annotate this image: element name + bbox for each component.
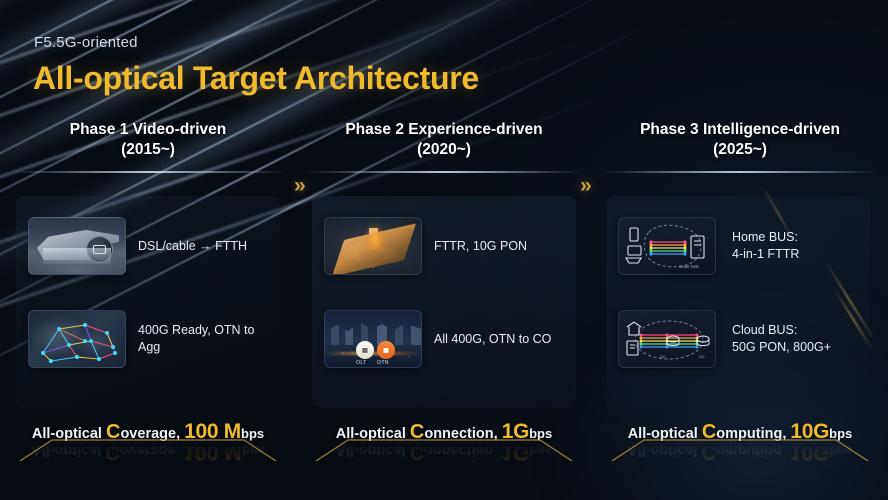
kicker-text: F5.5G-oriented xyxy=(34,34,138,51)
phase-3-divider xyxy=(604,171,876,173)
cloud-bus-svg: DC DC xyxy=(619,311,716,368)
phase-1-year: (2015~) xyxy=(0,140,296,160)
list-item[interactable]: 400G Ready, OTN to Agg xyxy=(28,309,268,369)
phase-2-heading: Phase 2 Experience-driven (2020~) xyxy=(296,118,592,160)
svg-text:smart host: smart host xyxy=(679,264,699,269)
chevron-separator-2-icon: » xyxy=(580,175,585,196)
slide-canvas: F5.5G-oriented All-optical Target Archit… xyxy=(0,0,888,500)
list-item[interactable]: DSL/cable → FTTH xyxy=(28,216,268,276)
list-item-label: FTTR, 10G PON xyxy=(434,238,527,255)
phase-3-panel: smart host Home BUS: 4-in-1 FTTR xyxy=(606,196,870,408)
phase-2-panel: FTTR, 10G PON ▤ ▦ OLT OTN All 400G, OTN … xyxy=(312,196,576,408)
chevron-separator-1-icon: » xyxy=(294,175,299,196)
footer-wedge-1 xyxy=(12,439,284,461)
otn-badge-icon: ▦ xyxy=(377,341,395,359)
phase-3-year: (2025~) xyxy=(592,140,888,160)
page-title: All-optical Target Architecture xyxy=(33,60,479,97)
fttr-home-3d-icon xyxy=(324,217,422,275)
phase-1-divider xyxy=(12,171,284,173)
phase-1-heading: Phase 1 Video-driven (2015~) xyxy=(0,118,296,160)
footer-banner-2: All-optical Connection, 1Gbps All-optica… xyxy=(296,416,592,500)
phase-2-title: Phase 2 Experience-driven xyxy=(345,121,542,138)
olt-badge-label: OLT xyxy=(356,360,367,366)
footer-wedge-3 xyxy=(604,439,876,461)
phase-column-3: Phase 3 Intelligence-driven (2025~) xyxy=(592,118,888,448)
list-item-label: Home BUS: 4-in-1 FTTR xyxy=(732,229,799,263)
list-item[interactable]: smart host Home BUS: 4-in-1 FTTR xyxy=(618,216,858,276)
fttr-glow xyxy=(365,224,385,250)
home-bus-diagram-icon: smart host xyxy=(618,217,716,275)
olt-badge-icon: ▤ xyxy=(356,341,374,359)
footer-banners: All-optical Coverage, 100 Mbps All-optic… xyxy=(0,416,888,500)
list-item[interactable]: ▤ ▦ OLT OTN All 400G, OTN to CO xyxy=(324,309,564,369)
cloud-bus-diagram-icon: DC DC xyxy=(618,310,716,368)
phase-column-2: Phase 2 Experience-driven (2020~) xyxy=(296,118,592,448)
city-lights xyxy=(325,311,421,367)
otn-badge-label: OTN xyxy=(377,360,389,366)
list-item[interactable]: DC DC Cloud BUS: 50G PON, 800G+ xyxy=(618,309,858,369)
list-item-label: All 400G, OTN to CO xyxy=(434,331,551,348)
phase-1-panel: DSL/cable → FTTH xyxy=(16,196,280,408)
phase-columns: Phase 1 Video-driven (2015~) DSL/cable →… xyxy=(0,118,888,448)
phase-2-year: (2020~) xyxy=(296,140,592,160)
phase-3-heading: Phase 3 Intelligence-driven (2025~) xyxy=(592,118,888,160)
footer-banner-3: All-optical Computing, 10Gbps All-optica… xyxy=(592,416,888,500)
list-item-label: 400G Ready, OTN to Agg xyxy=(138,322,268,356)
svg-text:DC: DC xyxy=(699,354,705,359)
svg-text:DC: DC xyxy=(660,354,666,359)
router-badge-icon xyxy=(86,236,113,263)
mesh-graph-svg xyxy=(29,311,126,368)
network-mesh-map-icon xyxy=(28,310,126,368)
home-bus-svg: smart host xyxy=(619,218,716,275)
phase-column-1: Phase 1 Video-driven (2015~) DSL/cable →… xyxy=(0,118,296,448)
list-item[interactable]: FTTR, 10G PON xyxy=(324,216,564,276)
phase-2-divider xyxy=(308,171,580,173)
house-night-photo-icon xyxy=(28,217,126,275)
phase-3-title: Phase 3 Intelligence-driven xyxy=(640,121,840,138)
list-item-label: Cloud BUS: 50G PON, 800G+ xyxy=(732,322,831,356)
footer-wedge-2 xyxy=(308,439,580,461)
city-night-olt-otn-icon: ▤ ▦ OLT OTN xyxy=(324,310,422,368)
phase-1-title: Phase 1 Video-driven xyxy=(70,121,227,138)
footer-banner-1: All-optical Coverage, 100 Mbps All-optic… xyxy=(0,416,296,500)
list-item-label: DSL/cable → FTTH xyxy=(138,238,247,255)
